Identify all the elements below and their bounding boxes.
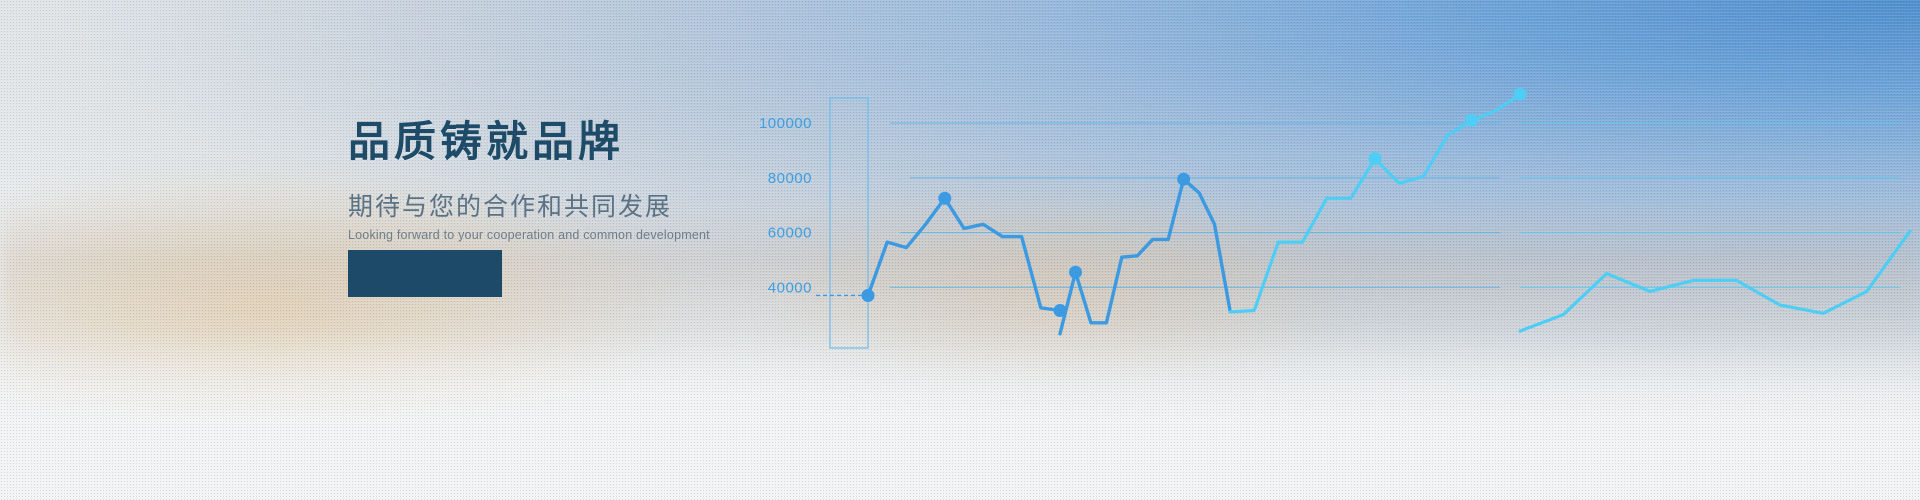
chart-data-point[interactable] <box>1177 173 1190 186</box>
chart-svg: 400006000080000100000 <box>760 80 1920 360</box>
chart-line-segment-3 <box>1230 94 1520 312</box>
chart-data-point[interactable] <box>1514 88 1527 101</box>
hero-copy-block: 品质铸就品牌 期待与您的合作和共同发展 Looking forward to y… <box>348 118 768 243</box>
chart-data-point[interactable] <box>862 289 875 302</box>
chart-y-axis-ticks: 400006000080000100000 <box>759 115 812 296</box>
chart-data-point[interactable] <box>938 192 951 205</box>
chart-data-point[interactable] <box>1465 114 1478 127</box>
chart-gridlines <box>890 123 1900 287</box>
chart-axis-box <box>830 98 868 348</box>
line-chart: 400006000080000100000 <box>760 80 1920 360</box>
y-axis-tick-label: 40000 <box>768 279 812 296</box>
y-axis-tick-label: 60000 <box>768 225 812 242</box>
page-title: 品质铸就品牌 <box>348 118 768 166</box>
chart-line-segment-4 <box>1520 231 1910 331</box>
chart-line-segment-1 <box>868 198 1060 310</box>
subtitle-chinese: 期待与您的合作和共同发展 <box>348 192 768 222</box>
chart-series-layer <box>862 88 1911 334</box>
y-axis-tick-label: 80000 <box>768 170 812 187</box>
hero-banner: 品质铸就品牌 期待与您的合作和共同发展 Looking forward to y… <box>0 0 1920 500</box>
chart-data-point[interactable] <box>1069 266 1082 279</box>
cta-button[interactable] <box>348 250 502 297</box>
chart-line-segment-2 <box>1060 179 1230 334</box>
subtitle-english: Looking forward to your cooperation and … <box>348 228 768 243</box>
y-axis-tick-label: 100000 <box>759 115 812 132</box>
chart-data-point[interactable] <box>1369 152 1382 165</box>
